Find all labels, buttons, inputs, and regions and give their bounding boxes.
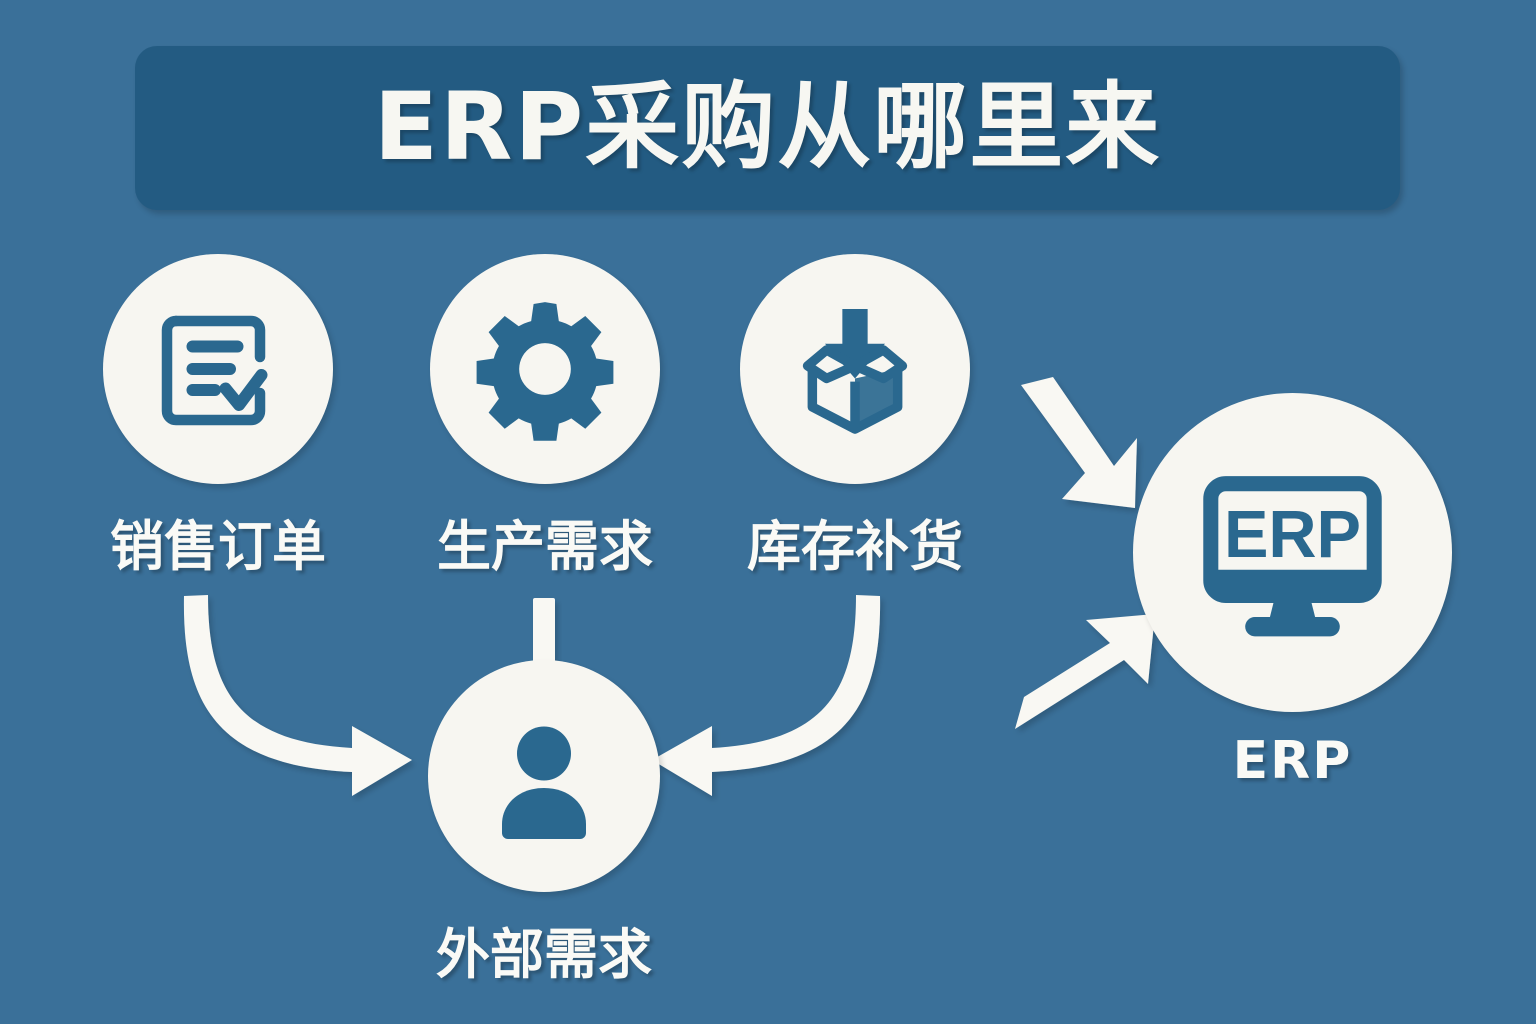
page-title: ERP采购从哪里来 <box>374 81 1162 175</box>
node-erp-circle: ERP <box>1133 393 1452 712</box>
arrow-sales-to-external <box>184 595 412 796</box>
arrow-external-to-erp <box>1015 614 1155 729</box>
node-erp-label: ERP <box>1133 731 1452 791</box>
infographic-canvas: ERP采购从哪里来 <box>0 0 1536 1024</box>
arrow-prod-to-external <box>533 598 555 668</box>
gear-icon <box>469 293 621 445</box>
title-banner: ERP采购从哪里来 <box>135 46 1400 210</box>
arrow-stock-to-erp <box>1021 377 1137 508</box>
node-inventory-replenishment-circle <box>740 254 970 484</box>
node-inventory-replenishment-label: 库存补货 <box>720 502 990 581</box>
node-external-demand-label: 外部需求 <box>408 910 680 989</box>
arrow-stock-to-external <box>652 595 880 796</box>
box-download-icon <box>776 290 934 448</box>
document-check-icon <box>143 294 293 444</box>
erp-screen-text: ERP <box>1224 498 1361 572</box>
person-icon <box>469 701 619 851</box>
node-external-demand-circle <box>428 660 660 892</box>
monitor-erp-icon: ERP <box>1185 445 1400 660</box>
node-sales-order-label: 销售订单 <box>83 502 353 581</box>
node-production-demand-label: 生产需求 <box>410 502 680 581</box>
node-production-demand-circle <box>430 254 660 484</box>
node-sales-order-circle <box>103 254 333 484</box>
